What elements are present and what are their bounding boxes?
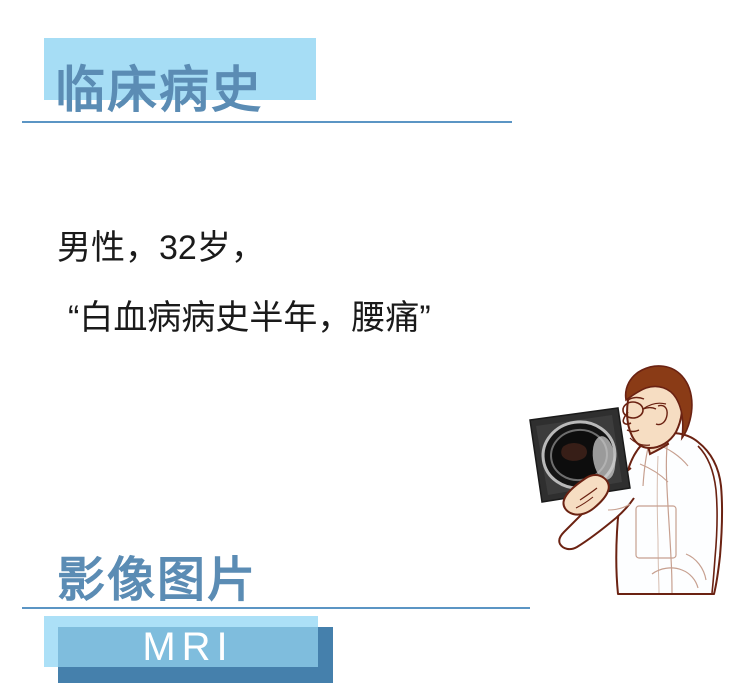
- footer-divider-rule: [22, 607, 530, 609]
- page-title: 临床病史: [55, 62, 263, 118]
- doctor-body-group: [530, 366, 722, 594]
- chief-complaint-text: “白血病病史半年，腰痛”: [68, 296, 431, 340]
- patient-demographics-text: 男性，32岁，: [57, 226, 265, 270]
- slide-root: 临床病史 男性，32岁， “白血病病史半年，腰痛”: [0, 0, 751, 696]
- doctor-illustration: [500, 360, 751, 620]
- mri-badge-label: MRI: [58, 620, 318, 674]
- section-title-imaging: 影像图片: [57, 554, 257, 608]
- mri-film-lesion: [561, 443, 587, 461]
- header-divider-rule: [22, 121, 512, 123]
